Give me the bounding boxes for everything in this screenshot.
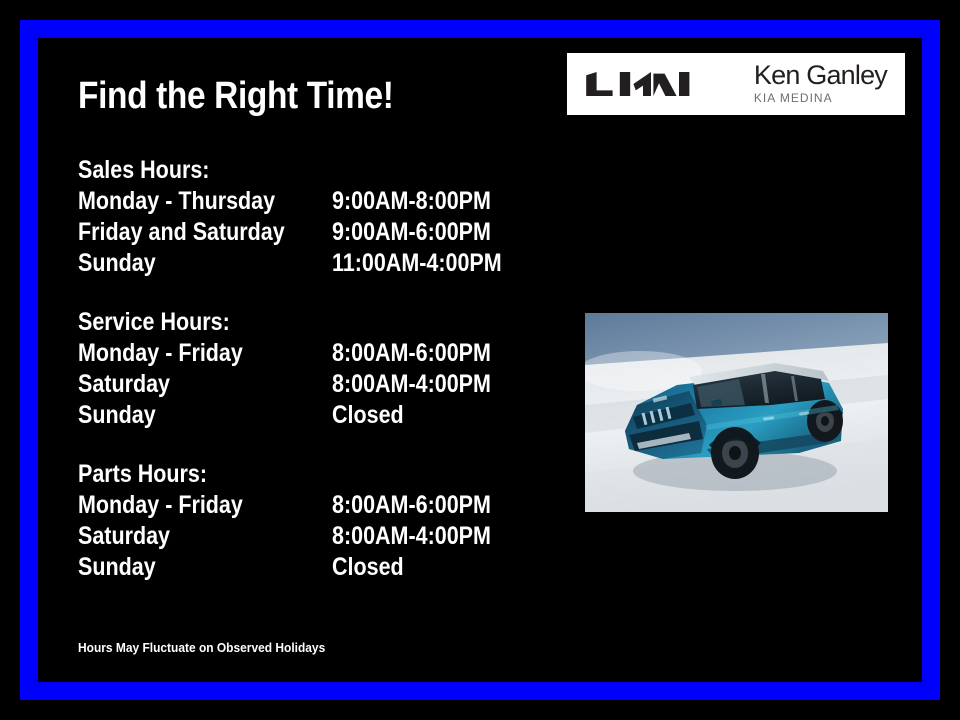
hours-block: Sales Hours:Monday - Thursday9:00AM-8:00… [78,155,538,279]
hours-row-days: Monday - Friday [78,490,243,521]
hours-row-time: 9:00AM-6:00PM [332,217,491,248]
hours-row-time: 11:00AM-4:00PM [332,248,502,279]
kia-logo-icon [583,67,703,101]
hours-row: SundayClosed [78,552,538,583]
hours-row: Monday - Thursday9:00AM-8:00PM [78,186,538,217]
dealer-name: Ken Ganley [754,60,887,90]
slide-canvas: Find the Right Time! Sales Hours:Monday … [0,0,960,720]
hours-row-days: Saturday [78,521,170,552]
hours-row-days: Saturday [78,369,170,400]
dealer-logo-card: Ken Ganley KIA MEDINA [567,53,905,115]
hours-block-heading: Service Hours: [78,307,474,338]
hours-row-days: Monday - Friday [78,338,243,369]
hours-block-heading: Parts Hours: [78,459,474,490]
hours-row-days: Friday and Saturday [78,217,285,248]
hours-row: SundayClosed [78,400,538,431]
page-title: Find the Right Time! [78,76,394,117]
hours-row: Monday - Friday8:00AM-6:00PM [78,338,538,369]
hours-row-time: 9:00AM-8:00PM [332,186,491,217]
hours-section: Sales Hours:Monday - Thursday9:00AM-8:00… [78,155,538,583]
hours-block: Parts Hours:Monday - Friday8:00AM-6:00PM… [78,459,538,583]
hours-block-heading: Sales Hours: [78,155,474,186]
hours-block: Service Hours:Monday - Friday8:00AM-6:00… [78,307,538,431]
hours-row: Saturday8:00AM-4:00PM [78,369,538,400]
hours-row-days: Sunday [78,248,156,279]
hours-row-time: Closed [332,400,404,431]
hours-row-days: Sunday [78,552,156,583]
hours-row: Monday - Friday8:00AM-6:00PM [78,490,538,521]
hours-row-time: 8:00AM-6:00PM [332,338,491,369]
dealer-location: KIA MEDINA [754,89,887,107]
hours-row-time: 8:00AM-4:00PM [332,369,491,400]
hours-row-time: 8:00AM-6:00PM [332,490,491,521]
hours-row-time: 8:00AM-4:00PM [332,521,491,552]
hours-row: Saturday8:00AM-4:00PM [78,521,538,552]
hours-row-days: Sunday [78,400,156,431]
holiday-disclaimer: Hours May Fluctuate on Observed Holidays [78,640,325,655]
dealer-name-group: Ken Ganley KIA MEDINA [754,62,891,107]
hours-row-time: Closed [332,552,404,583]
hours-row: Sunday11:00AM-4:00PM [78,248,538,279]
hours-row-days: Monday - Thursday [78,186,275,217]
kia-ev9-suv-photo [585,313,888,512]
hours-row: Friday and Saturday9:00AM-6:00PM [78,217,538,248]
